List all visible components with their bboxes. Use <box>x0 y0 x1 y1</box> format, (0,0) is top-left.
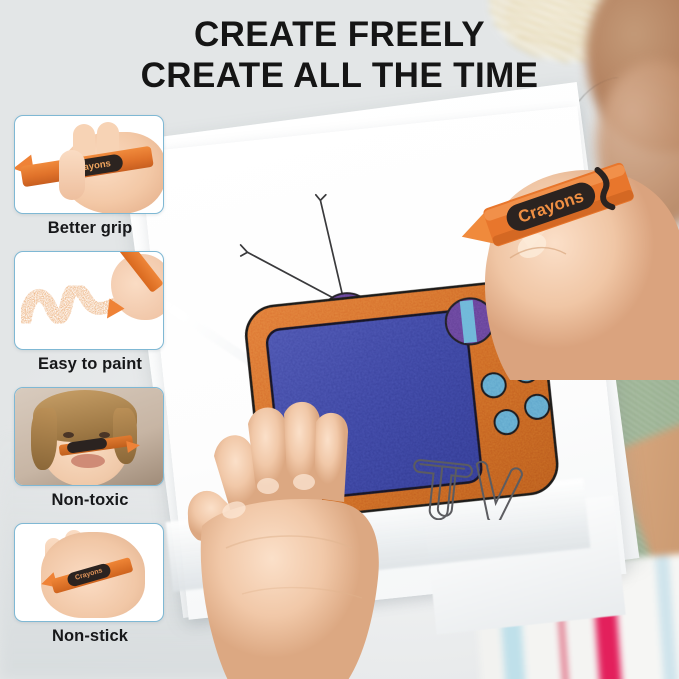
feature-label-non-stick: Non-stick <box>14 627 166 646</box>
feature-label-easy-to-paint: Easy to paint <box>14 355 166 374</box>
crayon-tip <box>126 439 141 453</box>
feature-card-image-easy-to-paint <box>14 251 164 350</box>
feature-card-image-better-grip: Crayons <box>14 115 164 214</box>
art-open-palm-with-crayon: Crayons <box>15 524 163 621</box>
headline-line-1: CREATE FREELY <box>0 14 679 55</box>
held-crayon: Crayons <box>440 150 640 280</box>
product-infographic: Crayons CREATE FREELY CREATE ALL THE TI <box>0 0 679 679</box>
feature-card-non-stick[interactable]: Crayons Non-stick <box>14 523 166 646</box>
feature-card-non-toxic[interactable]: Non-toxic <box>14 387 166 510</box>
feature-card-list: Crayons Better grip <box>14 115 166 659</box>
art-child-with-crayon <box>15 388 163 485</box>
art-zigzag-stroke <box>15 252 163 349</box>
child-mouth <box>71 454 105 468</box>
feature-card-image-non-toxic <box>14 387 164 486</box>
feature-card-easy-to-paint[interactable]: Easy to paint <box>14 251 166 374</box>
feature-card-image-non-stick: Crayons <box>14 523 164 622</box>
art-hand-holding-crayon: Crayons <box>15 116 163 213</box>
headline: CREATE FREELY CREATE ALL THE TIME <box>0 14 679 97</box>
child-hair-left <box>31 408 57 470</box>
left-hand-on-paper <box>176 398 391 679</box>
feature-card-better-grip[interactable]: Crayons Better grip <box>14 115 166 238</box>
headline-line-2: CREATE ALL THE TIME <box>0 55 679 96</box>
feature-label-non-toxic: Non-toxic <box>14 491 166 510</box>
feature-label-better-grip: Better grip <box>14 219 166 238</box>
tv-antennas <box>235 193 343 311</box>
thumb <box>59 150 85 200</box>
eye-left <box>63 432 74 438</box>
